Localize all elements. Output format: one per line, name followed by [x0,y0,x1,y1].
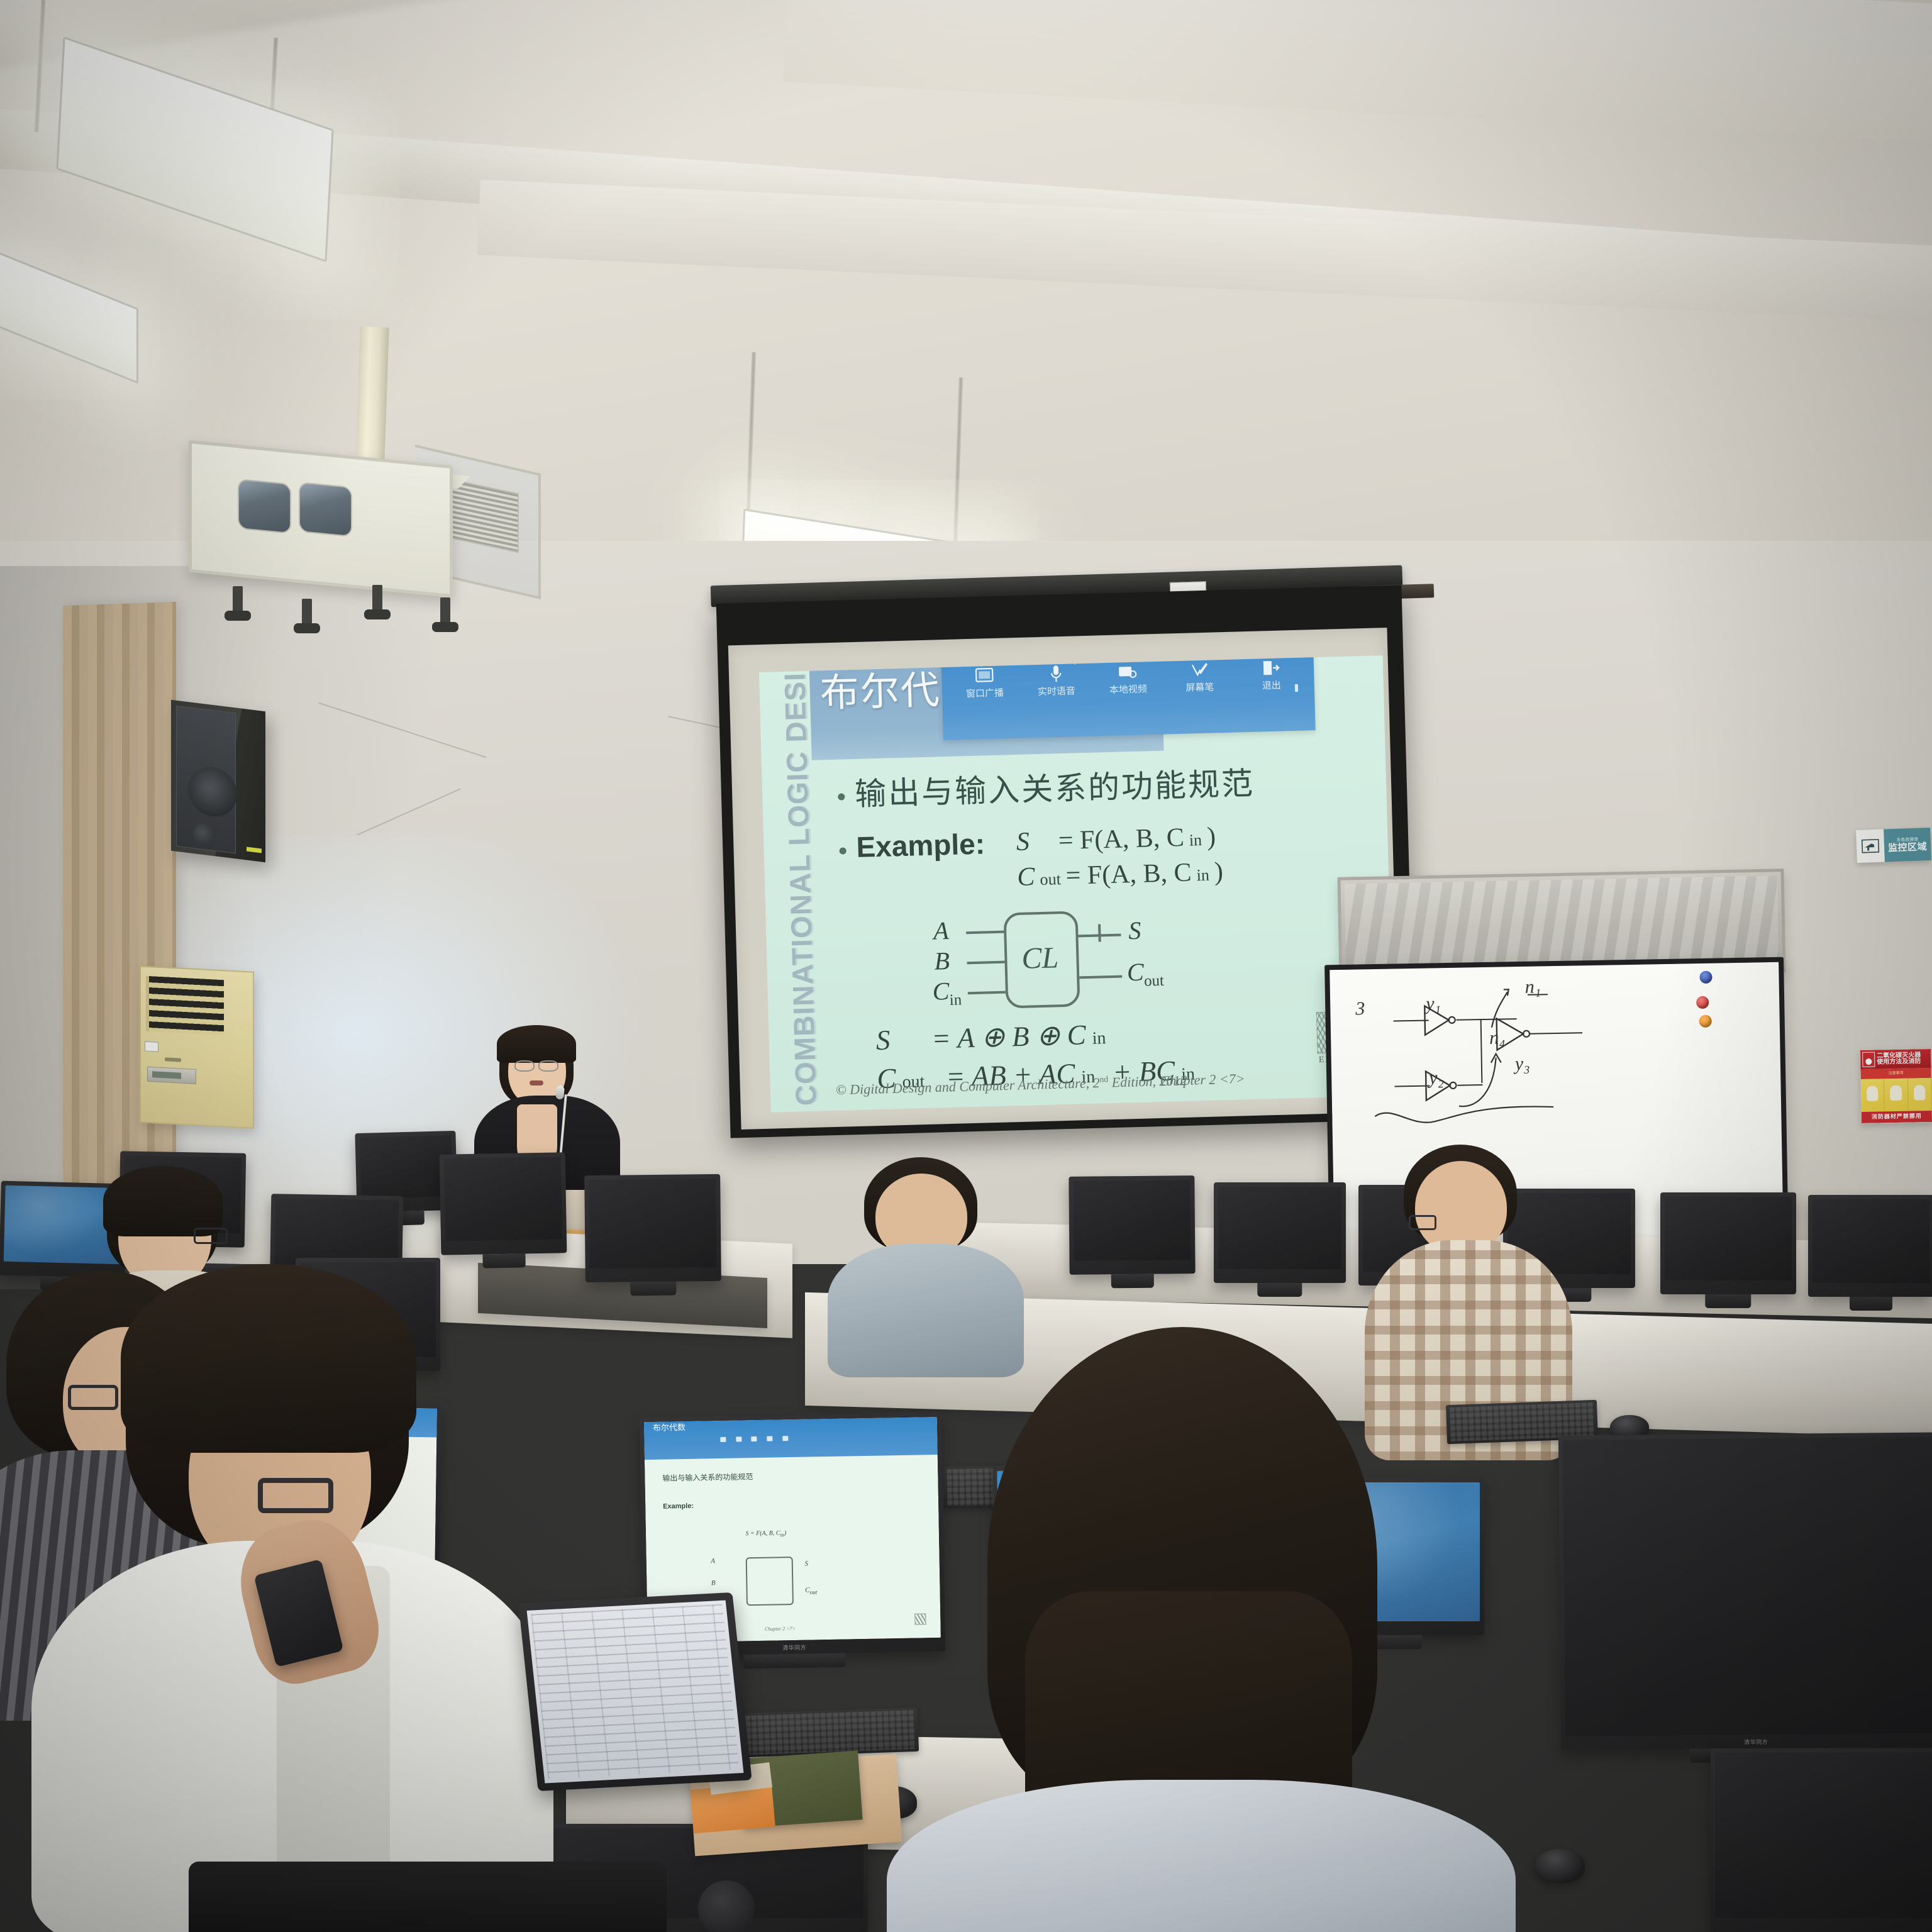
poster-title: 二氧化碳灭火器使用方法及消防 [1877,1052,1921,1066]
glasses-icon [1409,1215,1436,1230]
monitor[interactable] [1711,1748,1932,1932]
toolbar-item-exit[interactable]: 退出 [1245,657,1298,691]
toolbar-item-local-video[interactable]: 本地视频 [1101,660,1155,695]
ceiling-beam [784,0,1932,145]
chair-back [189,1862,667,1932]
cage-window [238,479,291,534]
input-label-cin: Cin [932,978,962,1009]
eq-rhs: = A ⊕ B ⊕ C [931,1016,1087,1058]
slide-bullets: 输出与输入关系的功能规范 Example: S = F(A, B, Cin) C… [838,763,1363,916]
ceiling-beam [0,0,907,68]
cabinet-louvers [146,976,224,1035]
monitor-screen [1073,1180,1191,1261]
equation-s: S = F(A, B, Cin) [1016,821,1223,858]
poster-steps [1861,1078,1932,1112]
poster-step [1861,1079,1885,1112]
instructor-hair-top [497,1025,576,1063]
eq-sub: in [1189,830,1202,850]
eq-rhs: = F(A, B, C [1058,821,1184,857]
monitor[interactable] [1808,1195,1932,1297]
wall-speaker [171,700,265,862]
mouse[interactable] [1535,1849,1585,1883]
glasses-icon [258,1478,333,1513]
bullet-text: 输出与输入关系的功能规范 [854,766,1255,813]
slide-footer-right: Chapter 2 <7> [1160,1072,1245,1088]
output-wire [1079,975,1122,979]
pen-icon [1187,659,1212,681]
toolbar-label: 退出 [1262,681,1281,691]
mirrored-footer: Chapter 2 <7> [765,1626,796,1632]
glasses-icon [514,1060,535,1072]
eq-sub: in [1196,865,1209,885]
wire [1529,1032,1582,1034]
output-label-s: S [1128,918,1141,944]
mirrored-output-cout: Cout [805,1587,817,1596]
monitor-screen [1665,1197,1792,1280]
input-wire [966,931,1004,935]
whiteboard-magnet[interactable] [1699,1015,1712,1028]
mirrored-bullet-2: Example: [663,1503,694,1511]
classroom-scene: COMBINATIONAL LOGIC DESIGN 布尔代数 窗口广播 实时语… [0,0,1932,1932]
sign-title: 监控区域 [1888,842,1928,853]
laptop-screen [527,1600,744,1783]
monitor[interactable]: 清华同方 [1558,1432,1932,1750]
mirrored-bullet-1: 输出与输入关系的功能规范 [662,1473,753,1482]
bullet-item: 输出与输入关系的功能规范 [838,763,1360,813]
poster-footer: 消防器材严禁挪用 [1862,1111,1932,1123]
surveillance-sign-text: 多角度摄像 监控区域 [1884,828,1931,862]
input-label-b: B [934,948,950,974]
cabinet-logo [165,1057,181,1062]
bullet-dot-icon [840,847,847,854]
example-equations: S = F(A, B, Cin) Cout = F(A, B, Cin) [1016,821,1223,894]
electrical-control-cabinet[interactable] [140,965,254,1129]
whiteboard-magnet[interactable] [1696,996,1709,1009]
ceiling-mount-foot [233,586,243,615]
mirrored-title: 布尔代数 [653,1423,686,1432]
toolbar-item-window-broadcast[interactable]: 窗口广播 [958,664,1011,699]
toolbar-label: 窗口广播 [966,688,1004,699]
input-label-a: A [933,918,950,944]
monitor-screen [1715,1753,1932,1918]
mirrored-cl-block [746,1557,794,1606]
ceiling-mount-foot [302,599,312,628]
cl-block-diagram: CL A B Cin S Cout [891,901,1246,1018]
glasses-icon [194,1228,228,1244]
fire-extinguisher-poster: 二氧化碳灭火器使用方法及消防 注意事项 消防器材严禁挪用 [1860,1048,1932,1124]
bullet-dot-icon [838,793,845,800]
toolbar-item-screen-pen[interactable]: 屏幕笔 [1173,658,1226,693]
microphone-icon [1044,663,1069,685]
cabinet-display-panel[interactable] [147,1067,196,1084]
chair-knob [698,1880,755,1932]
laptop[interactable] [518,1592,752,1791]
mirrored-input-a: A [711,1558,715,1565]
eq-sub: in [1092,1026,1106,1050]
ceiling-mount-foot [440,597,450,626]
poster-header: 二氧化碳灭火器使用方法及消防 [1860,1049,1931,1069]
cabinet-badge [145,1041,158,1052]
monitor[interactable] [440,1152,567,1255]
exit-icon [1259,657,1284,679]
monitor-screen [1218,1187,1341,1269]
eq-lhs-sub: out [1040,869,1061,889]
arrow-icon [1480,983,1524,1030]
eq-lhs: S [1016,826,1030,858]
whiteboard-note: y₃ [1515,1055,1530,1074]
video-icon [1116,661,1140,683]
monitor-screen [360,1135,453,1199]
keyboard[interactable] [729,1707,919,1758]
mirrored-publisher-logo [914,1613,926,1624]
eq-rhs: = F(A, B, C [1065,857,1192,892]
monitor-screen [1813,1199,1929,1283]
surveillance-area-sign: 多角度摄像 监控区域 [1856,828,1931,863]
bullet-text: Example: [856,827,985,863]
fire-extinguisher-icon [1862,1052,1875,1067]
camera-icon [1856,830,1885,863]
underline [1528,994,1548,996]
student [931,1327,1472,1932]
monitor[interactable] [584,1174,721,1282]
instructor-mouth [530,1080,543,1085]
presentation-slide: COMBINATIONAL LOGIC DESIGN 布尔代数 窗口广播 实时语… [759,655,1395,1113]
cage-window [299,482,352,537]
eq-lhs: C [1017,861,1035,893]
cl-block-label: CL [1021,943,1059,974]
glasses-icon [538,1060,558,1072]
ceiling-mount-foot [372,585,382,614]
whiteboard-magnet[interactable] [1699,971,1712,984]
curve-arrow-icon [1454,1047,1509,1108]
input-wire [968,991,1006,995]
student-hair-top [121,1264,416,1453]
laptop-table-content [531,1604,740,1779]
student-torso [887,1780,1516,1932]
monitor[interactable] [1214,1182,1346,1283]
toolbar-label: 本地视频 [1109,684,1147,695]
eq-lhs: S [875,1021,891,1060]
student-hair-top [103,1166,223,1236]
speaker-grille [176,706,236,854]
toolbar-item-realtime-voice[interactable]: 实时语音 [1030,662,1083,697]
poster-step [1907,1078,1931,1111]
monitor[interactable] [1069,1175,1195,1275]
inverter-gate-icon [1423,1004,1462,1038]
projection-screen[interactable]: COMBINATIONAL LOGIC DESIGN 布尔代数 窗口广播 实时语… [728,628,1400,1130]
whiteboard-note: 3 [1355,999,1365,1018]
speaker-cone [188,764,237,819]
bullet-item: Example: S = F(A, B, Cin) Cout = F(A, B,… [839,817,1363,898]
monitor[interactable] [1660,1192,1796,1294]
monitor-screen [444,1157,562,1241]
mirrored-output-s: S [804,1560,808,1567]
speaker-tweeter [193,823,214,847]
toolbar-overflow-icon[interactable] [1295,684,1298,692]
monitor-screen [1563,1436,1932,1736]
output-label-cout: Cout [1127,959,1165,990]
equation-cout: Cout = F(A, B, Cin) [1017,856,1224,893]
monitor-brand: 清华同方 [1744,1740,1768,1746]
speaker-label [247,847,262,853]
toolbar-label: 屏幕笔 [1185,682,1214,692]
squiggle-line [1374,1099,1557,1130]
monitor-screen [589,1179,716,1269]
monitor-brand: 清华同方 [782,1646,806,1652]
output-tick [1098,924,1101,941]
mirrored-equation: S = F(A, B, Cin) [745,1530,786,1538]
poster-step [1884,1079,1908,1112]
broadcast-toolbar[interactable]: 窗口广播 实时语音 本地视频 [941,655,1316,740]
toolbar-label: 实时语音 [1038,686,1075,697]
slide-sidebar: COMBINATIONAL LOGIC DESIGN [760,676,819,1111]
poster-note: 注意事项 [1861,1068,1931,1079]
input-wire [967,961,1005,965]
window-broadcast-icon [972,665,997,687]
mirrored-input-b: B [711,1580,716,1587]
mirrored-toolbar-icons [720,1426,884,1449]
